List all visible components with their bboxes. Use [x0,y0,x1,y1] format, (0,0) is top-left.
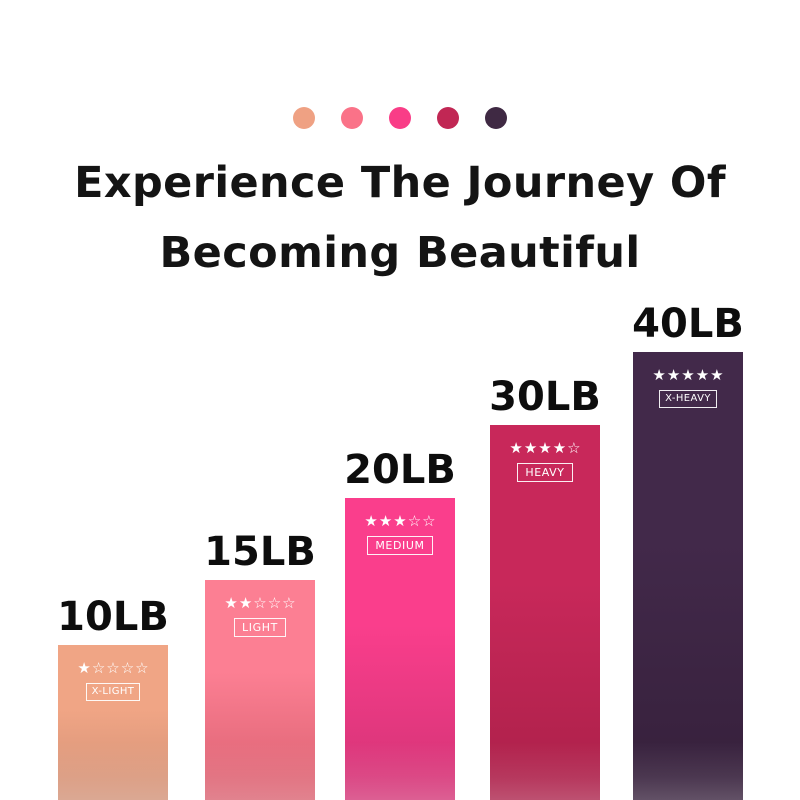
bar-weight-label: 40LB [632,304,744,344]
star-filled-icon: ★ [667,368,680,383]
star-empty-icon: ☆ [106,661,119,676]
star-filled-icon: ★ [681,368,694,383]
bar-group-heavy[interactable]: 30LB★★★★☆HEAVY [490,425,600,800]
star-filled-icon: ★ [538,441,551,456]
star-empty-icon: ☆ [268,596,281,611]
bar-group-light[interactable]: 15LB★★☆☆☆LIGHT [205,580,315,800]
bar-body: ★★★★★X-HEAVY [633,352,743,800]
bar-body: ★★☆☆☆LIGHT [205,580,315,800]
bar-body: ★★★☆☆MEDIUM [345,498,455,800]
star-filled-icon: ★ [379,514,392,529]
star-rating: ★★☆☆☆ [224,596,295,611]
bar-weight-label: 20LB [344,450,456,490]
bar-group-medium[interactable]: 20LB★★★☆☆MEDIUM [345,498,455,800]
bar-fill [633,352,743,800]
star-filled-icon: ★ [710,368,723,383]
bar-rating-block: ★★☆☆☆LIGHT [205,596,315,637]
star-filled-icon: ★ [652,368,665,383]
star-filled-icon: ★ [364,514,377,529]
level-badge: LIGHT [234,618,286,637]
star-filled-icon: ★ [77,661,90,676]
bar-weight-label: 10LB [57,597,169,637]
star-rating: ★★★★★ [652,368,723,383]
bar-chart: 10LB★☆☆☆☆X-LIGHT15LB★★☆☆☆LIGHT20LB★★★☆☆M… [0,0,800,800]
bar-group-x-heavy[interactable]: 40LB★★★★★X-HEAVY [633,352,743,800]
bar-rating-block: ★★★★★X-HEAVY [633,368,743,408]
level-badge: MEDIUM [367,536,432,555]
star-empty-icon: ☆ [408,514,421,529]
bar-rating-block: ★★★★☆HEAVY [490,441,600,482]
bar-rating-block: ★★★☆☆MEDIUM [345,514,455,555]
star-empty-icon: ☆ [253,596,266,611]
star-filled-icon: ★ [553,441,566,456]
star-empty-icon: ☆ [121,661,134,676]
level-badge: X-HEAVY [659,390,717,408]
star-filled-icon: ★ [224,596,237,611]
bar-rating-block: ★☆☆☆☆X-LIGHT [58,661,168,701]
star-empty-icon: ☆ [135,661,148,676]
star-empty-icon: ☆ [92,661,105,676]
star-filled-icon: ★ [524,441,537,456]
bar-group-x-light[interactable]: 10LB★☆☆☆☆X-LIGHT [58,645,168,800]
star-filled-icon: ★ [696,368,709,383]
star-empty-icon: ☆ [567,441,580,456]
star-filled-icon: ★ [509,441,522,456]
bar-body: ★☆☆☆☆X-LIGHT [58,645,168,800]
star-filled-icon: ★ [393,514,406,529]
level-badge: X-LIGHT [86,683,141,701]
bar-weight-label: 30LB [489,377,601,417]
bar-weight-label: 15LB [204,532,316,572]
star-filled-icon: ★ [239,596,252,611]
star-empty-icon: ☆ [282,596,295,611]
star-rating: ★☆☆☆☆ [77,661,148,676]
star-rating: ★★★☆☆ [364,514,435,529]
bar-body: ★★★★☆HEAVY [490,425,600,800]
star-empty-icon: ☆ [422,514,435,529]
level-badge: HEAVY [517,463,572,482]
resistance-band-infographic: Experience The Journey Of Becoming Beaut… [0,0,800,800]
star-rating: ★★★★☆ [509,441,580,456]
